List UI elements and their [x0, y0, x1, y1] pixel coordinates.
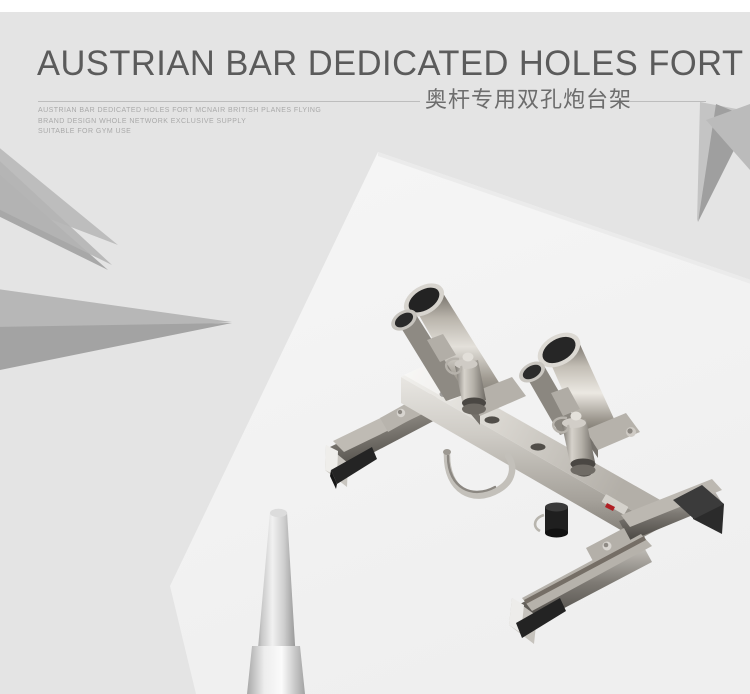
subtitle-english-block: AUSTRIAN BAR DEDICATED HOLES FORT MCNAIR… — [38, 106, 321, 138]
product-banner-page: AUSTRIAN BAR DEDICATED HOLES FORT FRAME … — [0, 0, 750, 694]
subtitle-english-line-3: SUITABLE FOR GYM USE — [38, 127, 321, 138]
subtitle-english-line-1: AUSTRIAN BAR DEDICATED HOLES FORT MCNAIR… — [38, 106, 321, 117]
page-title: AUSTRIAN BAR DEDICATED HOLES FORT FRAME — [37, 44, 717, 84]
divider-rule-left — [38, 101, 420, 102]
subtitle-chinese: 奥杆专用双孔炮台架 — [425, 88, 632, 114]
divider-rule-right — [629, 101, 706, 102]
subtitle-english-line-2: BRAND DESIGN WHOLE NETWORK EXCLUSIVE SUP… — [38, 117, 321, 128]
banner-header: AUSTRIAN BAR DEDICATED HOLES FORT FRAME … — [0, 0, 750, 150]
